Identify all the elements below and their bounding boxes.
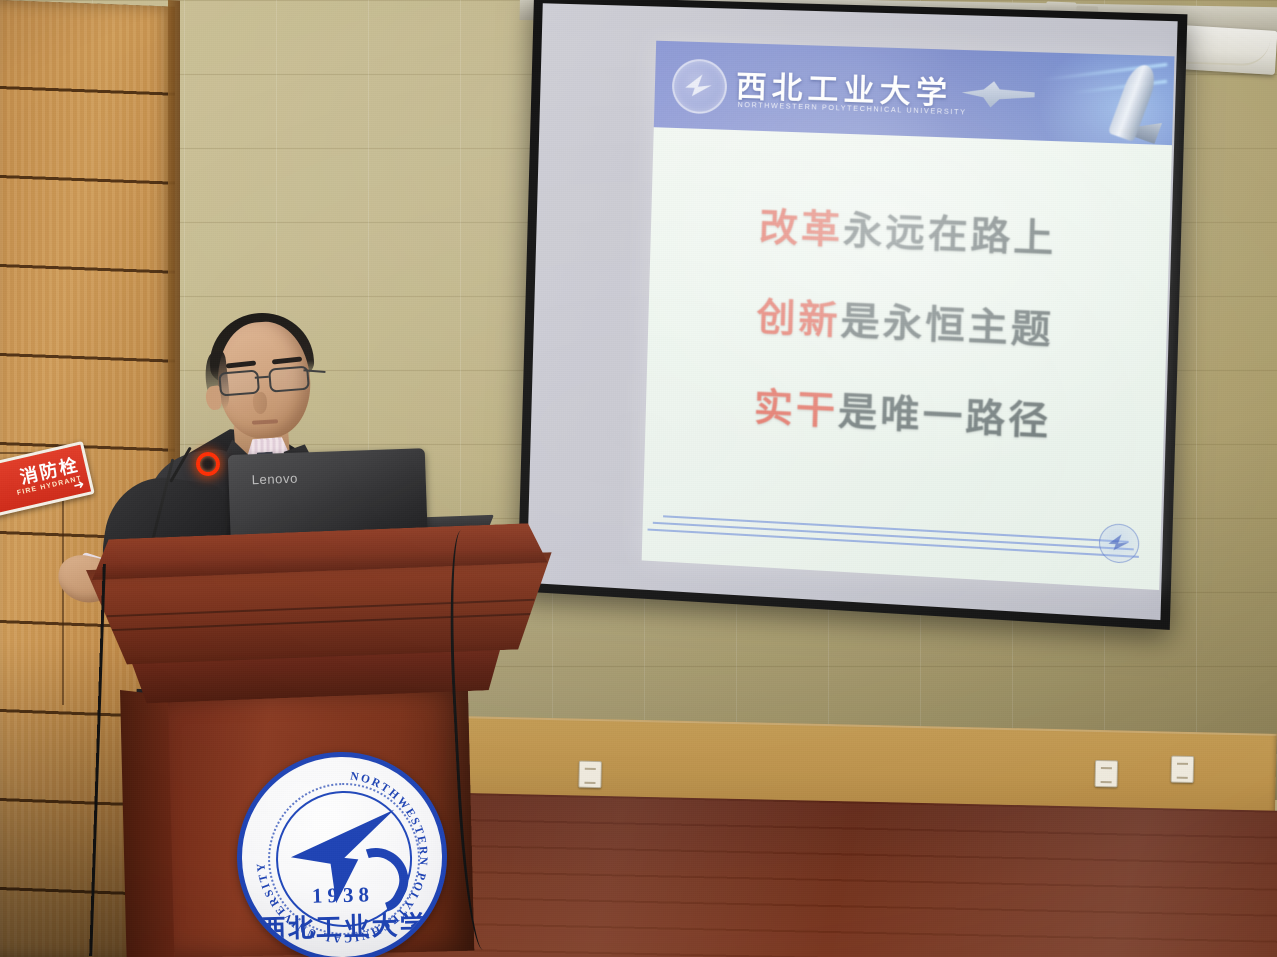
slide-line: 改革永远在路上 — [758, 196, 1057, 264]
pointing-hand-icon: ➜ — [72, 477, 86, 492]
slide-header-artwork — [946, 50, 1175, 146]
footer-npu-logo-icon — [1098, 523, 1139, 564]
glasses-bridge — [255, 376, 269, 379]
slide-line: 实干是唯一路径 — [753, 376, 1052, 447]
npu-name-cn: 西北工业大学 — [243, 905, 444, 947]
footer-rule — [648, 529, 1139, 558]
screen-surface: 西北工业大学 NORTHWESTERN POLYTECHNICAL UNIVER… — [527, 3, 1178, 620]
slide-line-rest: 永远在路上 — [843, 208, 1058, 261]
slide-line-highlight: 实干 — [753, 385, 838, 434]
footer-rule — [663, 515, 1129, 543]
slide-line-highlight: 改革 — [759, 205, 844, 253]
podium-npu-emblem: NORTHWESTERN POLYTECHNICAL UNIVERSITY 19… — [234, 749, 449, 957]
wall-outlet — [578, 761, 602, 788]
lens-left — [218, 370, 260, 397]
wall-outlet — [1171, 756, 1195, 783]
slide-line-rest: 是唯一路径 — [837, 389, 1051, 444]
fighter-jet-icon — [961, 77, 1035, 110]
slide-line: 创新是永恒主题 — [756, 286, 1055, 355]
footer-rule — [653, 522, 1134, 551]
projected-slide: 西北工业大学 NORTHWESTERN POLYTECHNICAL UNIVER… — [642, 41, 1175, 590]
photo-scene: 消防栓 FIRE HYDRANT ➜ ▪ 西北工业 — [0, 0, 1277, 957]
npu-emblem-icon — [671, 58, 727, 114]
microphone-indicator-icon — [196, 452, 220, 476]
slide-line-rest: 是永恒主题 — [840, 298, 1055, 352]
slide-body: 改革永远在路上 创新是永恒主题 实干是唯一路径 — [644, 127, 1172, 518]
laptop-brand-label: Lenovo — [251, 471, 298, 488]
wall-outlet — [1094, 760, 1118, 787]
slide-line-highlight: 创新 — [756, 295, 841, 343]
projection-screen: 西北工业大学 NORTHWESTERN POLYTECHNICAL UNIVER… — [517, 0, 1187, 630]
